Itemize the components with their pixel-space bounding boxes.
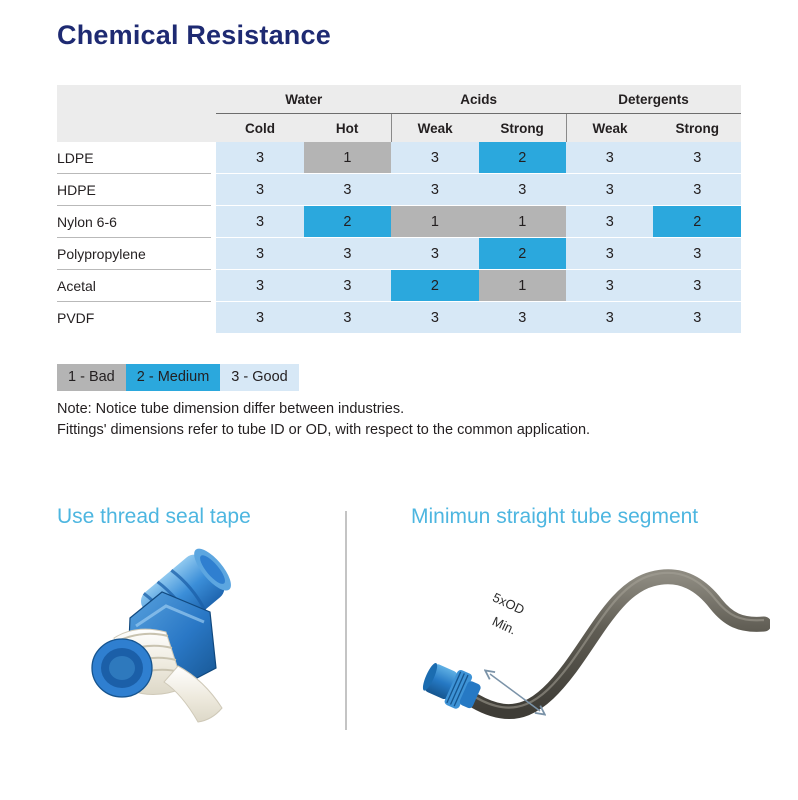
cell-nylon-water-cold: 3 <box>216 206 303 238</box>
header-corner-blank-2 <box>57 114 211 143</box>
cell-nylon-acids-weak: 1 <box>391 206 478 238</box>
table-row: Acetal 3 3 2 1 3 3 <box>57 270 741 302</box>
legend-item-bad: 1 - Bad <box>57 364 126 391</box>
cell-polypropylene-detergents-strong: 3 <box>653 238 741 270</box>
cell-hdpe-acids-weak: 3 <box>391 174 478 206</box>
table-body: LDPE 3 1 3 2 3 3 HDPE 3 3 3 3 3 3 Nylon … <box>57 142 741 334</box>
legend-item-medium: 2 - Medium <box>126 364 221 391</box>
table-subheader-row: Cold Hot Weak Strong Weak Strong <box>57 114 741 143</box>
cell-pvdf-detergents-strong: 3 <box>653 302 741 334</box>
table-row: LDPE 3 1 3 2 3 3 <box>57 142 741 174</box>
table-header: Water Acids Detergents Cold Hot Weak Str… <box>57 85 741 142</box>
cell-ldpe-acids-strong: 2 <box>479 142 566 174</box>
table-group-header-row: Water Acids Detergents <box>57 85 741 114</box>
cell-ldpe-water-hot: 1 <box>304 142 391 174</box>
table-row: HDPE 3 3 3 3 3 3 <box>57 174 741 206</box>
row-label-hdpe: HDPE <box>57 174 211 206</box>
cell-polypropylene-water-cold: 3 <box>216 238 303 270</box>
cell-pvdf-water-hot: 3 <box>304 302 391 334</box>
cell-ldpe-acids-weak: 3 <box>391 142 478 174</box>
row-label-ldpe: LDPE <box>57 142 211 174</box>
cell-polypropylene-acids-strong: 2 <box>479 238 566 270</box>
table-row: PVDF 3 3 3 3 3 3 <box>57 302 741 334</box>
cell-nylon-detergents-strong: 2 <box>653 206 741 238</box>
cell-nylon-detergents-weak: 3 <box>566 206 653 238</box>
section-heading-straight-segment: Minimun straight tube segment <box>411 505 698 529</box>
figure-barb-fitting-with-ptfe-tape <box>70 540 335 725</box>
page-title: Chemical Resistance <box>57 21 331 51</box>
chemical-resistance-table: Water Acids Detergents Cold Hot Weak Str… <box>57 85 741 334</box>
section-divider <box>345 511 347 730</box>
row-label-pvdf: PVDF <box>57 302 211 334</box>
note-block: Note: Notice tube dimension differ betwe… <box>57 399 787 441</box>
column-header-water-cold: Cold <box>216 114 303 143</box>
cell-acetal-detergents-weak: 3 <box>566 270 653 302</box>
column-header-water-hot: Hot <box>304 114 391 143</box>
legend-item-good: 3 - Good <box>220 364 298 391</box>
section-heading-thread-seal-tape: Use thread seal tape <box>57 505 251 529</box>
cell-pvdf-acids-strong: 3 <box>479 302 566 334</box>
cell-nylon-acids-strong: 1 <box>479 206 566 238</box>
column-group-water: Water <box>216 85 391 114</box>
cell-pvdf-water-cold: 3 <box>216 302 303 334</box>
cell-hdpe-detergents-weak: 3 <box>566 174 653 206</box>
cell-polypropylene-acids-weak: 3 <box>391 238 478 270</box>
cell-hdpe-water-hot: 3 <box>304 174 391 206</box>
cell-acetal-acids-strong: 1 <box>479 270 566 302</box>
header-corner-blank <box>57 85 211 114</box>
column-header-acids-weak: Weak <box>391 114 478 143</box>
cell-hdpe-detergents-strong: 3 <box>653 174 741 206</box>
cell-ldpe-water-cold: 3 <box>216 142 303 174</box>
cell-acetal-water-cold: 3 <box>216 270 303 302</box>
cell-polypropylene-detergents-weak: 3 <box>566 238 653 270</box>
cell-ldpe-detergents-strong: 3 <box>653 142 741 174</box>
bent-tube-icon <box>420 548 770 733</box>
row-label-polypropylene: Polypropylene <box>57 238 211 270</box>
cell-acetal-water-hot: 3 <box>304 270 391 302</box>
rating-legend: 1 - Bad 2 - Medium 3 - Good <box>57 364 299 391</box>
cell-pvdf-detergents-weak: 3 <box>566 302 653 334</box>
cell-hdpe-acids-strong: 3 <box>479 174 566 206</box>
cell-hdpe-water-cold: 3 <box>216 174 303 206</box>
cell-pvdf-acids-weak: 3 <box>391 302 478 334</box>
barb-fitting-icon <box>70 540 335 725</box>
table-row: Polypropylene 3 3 3 2 3 3 <box>57 238 741 270</box>
column-header-detergents-strong: Strong <box>653 114 741 143</box>
cell-acetal-detergents-strong: 3 <box>653 270 741 302</box>
cell-nylon-water-hot: 2 <box>304 206 391 238</box>
cell-ldpe-detergents-weak: 3 <box>566 142 653 174</box>
row-label-nylon-6-6: Nylon 6-6 <box>57 206 211 238</box>
row-label-acetal: Acetal <box>57 270 211 302</box>
cell-polypropylene-water-hot: 3 <box>304 238 391 270</box>
column-group-detergents: Detergents <box>566 85 741 114</box>
column-group-acids: Acids <box>391 85 566 114</box>
cell-acetal-acids-weak: 2 <box>391 270 478 302</box>
column-header-acids-strong: Strong <box>479 114 566 143</box>
note-line-1: Note: Notice tube dimension differ betwe… <box>57 399 787 420</box>
note-line-2: Fittings' dimensions refer to tube ID or… <box>57 420 787 441</box>
figure-bent-tube-with-fitting: 5xOD Min. <box>420 548 770 733</box>
column-header-detergents-weak: Weak <box>566 114 653 143</box>
table-row: Nylon 6-6 3 2 1 1 3 2 <box>57 206 741 238</box>
